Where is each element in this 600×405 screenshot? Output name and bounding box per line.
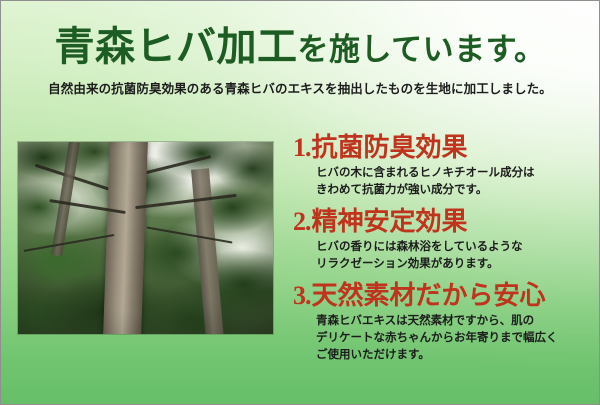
page-title: 青森ヒバ加工を施しています。: [1, 27, 599, 67]
benefit-body-line: ヒバの香りには森林浴をしているような: [316, 239, 593, 256]
benefit-body-line: リラクゼーション効果があります。: [316, 256, 593, 273]
page-subtitle: 自然由来の抗菌防臭効果のある青森ヒバのエキスを抽出したものを生地に加工しました。: [1, 78, 599, 97]
benefit-heading-text: 抗菌防臭効果: [312, 133, 468, 162]
benefit-body-line: ヒバの木に含まれるヒノキチオール成分は: [316, 165, 593, 182]
title-main-text: 青森ヒバ加工: [55, 24, 298, 69]
benefit-number: 1.: [293, 133, 311, 162]
photo-vignette: [18, 142, 273, 334]
benefit-heading-text: 天然素材だから安心: [312, 281, 546, 310]
title-tail-text: を施しています。: [298, 32, 546, 67]
poster-header: 青森ヒバ加工を施しています。 自然由来の抗菌防臭効果のある青森ヒバのエキスを抽出…: [1, 27, 599, 97]
hiba-promo-poster: 青森ヒバ加工を施しています。 自然由来の抗菌防臭効果のある青森ヒバのエキスを抽出…: [0, 0, 600, 405]
benefit-body-line: 青森ヒバエキスは天然素材ですから、肌の: [316, 313, 593, 330]
benefit-item-3: 3.天然素材だから安心 青森ヒバエキスは天然素材ですから、肌の デリケートな赤ち…: [293, 282, 593, 364]
benefit-body-line: デリケートな赤ちゃんからお年寄りまで幅広く: [316, 330, 593, 347]
benefit-body-line: きわめて抗菌力が強い成分です。: [316, 182, 593, 199]
benefit-number: 2.: [293, 207, 311, 236]
benefit-heading: 1.抗菌防臭効果: [293, 134, 593, 162]
benefit-heading: 2.精神安定効果: [293, 208, 593, 236]
benefit-heading-text: 精神安定効果: [312, 207, 468, 236]
benefit-number: 3.: [293, 281, 311, 310]
benefits-list: 1.抗菌防臭効果 ヒバの木に含まれるヒノキチオール成分は きわめて抗菌力が強い成…: [293, 134, 593, 364]
benefit-body: ヒバの香りには森林浴をしているような リラクゼーション効果があります。: [316, 239, 593, 273]
benefit-item-2: 2.精神安定効果 ヒバの香りには森林浴をしているような リラクゼーション効果があ…: [293, 208, 593, 273]
hiba-forest-photo: [18, 142, 273, 334]
benefit-body-line: ご使用いただけます。: [316, 347, 593, 364]
benefit-body: 青森ヒバエキスは天然素材ですから、肌の デリケートな赤ちゃんからお年寄りまで幅広…: [316, 313, 593, 364]
benefit-body: ヒバの木に含まれるヒノキチオール成分は きわめて抗菌力が強い成分です。: [316, 165, 593, 199]
benefit-heading: 3.天然素材だから安心: [293, 282, 593, 310]
benefit-item-1: 1.抗菌防臭効果 ヒバの木に含まれるヒノキチオール成分は きわめて抗菌力が強い成…: [293, 134, 593, 199]
